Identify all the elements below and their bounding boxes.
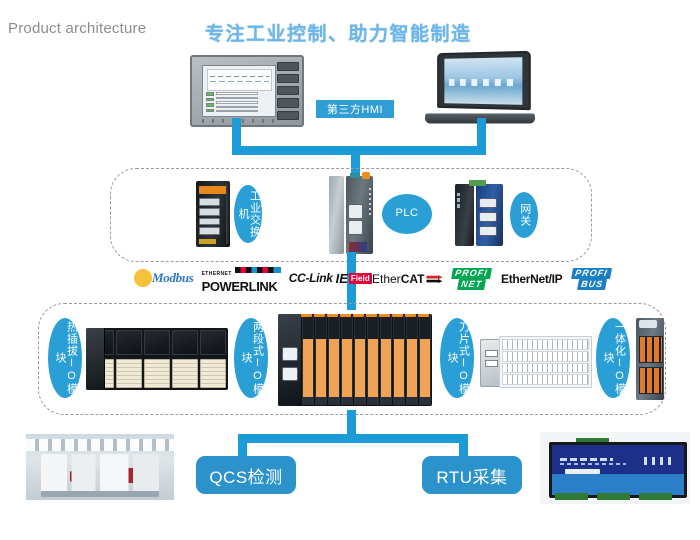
connector-io-down [347, 410, 356, 434]
rtu-indicator-leds [644, 457, 673, 465]
third-party-hmi-badge: 第三方HMI [316, 100, 394, 118]
plc-orange-cap [362, 172, 370, 179]
blade-io-port-1 [485, 350, 498, 357]
qcs-detection-button[interactable]: QCS检测 [196, 456, 296, 494]
rtu-device-photo [540, 432, 690, 504]
hmi-function-keys [277, 62, 299, 119]
factory-machine-red-part [118, 468, 139, 483]
gateway-module [455, 184, 503, 246]
blade-io-module [480, 336, 592, 388]
factory-machine-red-part-2 [70, 471, 82, 482]
connector-hmi-down [232, 118, 241, 146]
protocol-modbus: Modbus [136, 270, 194, 286]
chinese-slogan-title: 专注工业控制、助力智能制造 [205, 19, 472, 46]
rtu-model-text [560, 458, 613, 461]
rtu-device-body [549, 442, 687, 498]
protocol-ethercat: EtherCAT [372, 272, 442, 286]
plc-ethernet-port-2 [348, 220, 363, 234]
gateway-leds [457, 193, 460, 208]
hot-swap-io-module [86, 328, 228, 390]
integrated-io-terminal-1 [639, 336, 663, 363]
integrated-io-terminal-2 [639, 367, 663, 394]
protocol-ethernet-ip: EtherNet/IP [501, 272, 562, 286]
label-hot-swap-io-module: 热插拔IO模块 [48, 318, 82, 398]
hmi-status-leds [206, 92, 214, 112]
switch-top-band [199, 186, 228, 193]
plc-vents [369, 188, 371, 215]
two-segment-io-port-1 [282, 347, 298, 361]
integrated-io-module [636, 318, 664, 400]
industrial-switch [196, 181, 230, 247]
hot-swap-io-heads [86, 328, 228, 357]
plc-teal-cap [350, 173, 360, 178]
connector-to-qcs [238, 434, 247, 456]
connector-to-rtu [459, 434, 468, 456]
laptop-lid [437, 51, 531, 111]
laptop-screen [445, 57, 523, 104]
integrated-io-port [639, 320, 656, 327]
page-title: Product architecture [8, 20, 146, 37]
blade-io-cpu [480, 339, 501, 387]
architecture-diagram: Product architecture 专注工业控制、助力智能制造 [0, 0, 700, 540]
rtu-subtitle-text [560, 463, 626, 465]
factory-production-line-photo [26, 434, 174, 500]
label-industrial-switch: 工业交换机 [234, 185, 262, 243]
rtu-acquisition-button[interactable]: RTU采集 [422, 456, 522, 494]
gateway-port-1 [479, 198, 497, 208]
switch-side-panel [226, 184, 229, 245]
rtu-brand-logo [565, 469, 599, 474]
hmi-trend-graph [207, 69, 273, 91]
plc-left-body [329, 176, 344, 254]
hmi-panel [190, 55, 300, 123]
blade-io-port-2 [485, 360, 498, 367]
protocol-profinet: PROFI NET [452, 268, 491, 291]
gateway-port-2 [479, 212, 497, 222]
protocol-profibus: PROFI BUS [572, 268, 611, 291]
hmi-screen [202, 65, 277, 117]
blade-io-terminal-bank [499, 336, 592, 388]
gateway-left-body [455, 184, 474, 246]
label-blade-io-module: 刀片式IO模块 [440, 318, 474, 398]
switch-body [196, 181, 230, 247]
gateway-port-3 [479, 226, 497, 236]
rtu-bottom-terminal-1 [555, 493, 588, 499]
label-integrated-io-module: 一体化IO模块 [596, 318, 630, 398]
protocol-logos-left: Modbus ETHERNET POWERLINK CC-Link IE Fie… [136, 266, 376, 290]
hot-swap-io-cpu [86, 328, 105, 390]
connector-laptop-down [477, 118, 486, 146]
label-plc: PLC [382, 194, 432, 234]
rtu-bottom-terminal-2 [597, 493, 630, 499]
label-two-segment-io-module: 两段式IO模块 [234, 318, 268, 398]
plc-module [329, 176, 373, 254]
connector-application-bus [238, 434, 468, 443]
gateway-green-terminal [469, 180, 485, 186]
laptop [425, 52, 535, 124]
two-segment-io-top-caps [301, 314, 429, 317]
two-segment-io-port-2 [282, 367, 298, 381]
plc-ethernet-port-1 [348, 204, 363, 218]
hmi-data-rows [216, 92, 258, 112]
two-segment-io-module [278, 314, 432, 406]
hot-swap-io-terminals [86, 357, 228, 390]
plc-terminal-block [349, 242, 367, 253]
rtu-bottom-terminal-3 [639, 493, 672, 499]
protocol-cclink-ie-field: CC-Link IE Field [289, 271, 372, 286]
two-segment-io-channels [301, 314, 432, 406]
modbus-gear-icon [136, 271, 150, 285]
hmi-panel-body [190, 55, 304, 127]
switch-ports [199, 198, 220, 235]
switch-bottom-band [199, 239, 216, 244]
powerlink-bars-icon [235, 267, 281, 273]
two-segment-io-cpu [278, 314, 301, 406]
protocol-logos-right: EtherCAT PROFI NET EtherNet/IP PROFI BUS [372, 268, 682, 290]
label-gateway: 网关 [510, 192, 538, 238]
ethercat-arrow-icon [426, 275, 442, 283]
protocol-powerlink: ETHERNET POWERLINK [202, 263, 281, 294]
